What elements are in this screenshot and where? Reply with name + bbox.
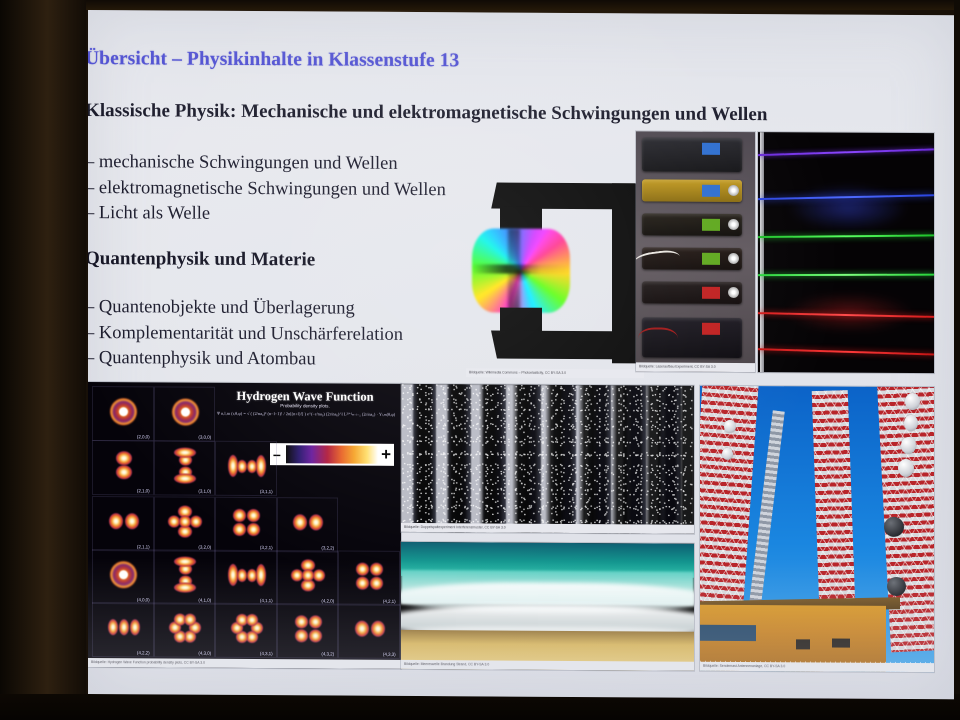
image-caption-interference: Bildquelle: Doppelspaltexperiment Interf…: [401, 523, 694, 534]
orbital-cell: (2,1,1): [92, 496, 154, 551]
orbital-label: (4,3,3): [383, 651, 396, 656]
image-photoelasticity: Bildquelle: Wikimedia Commons – Photoela…: [466, 172, 644, 378]
orbital-label: (3,2,1): [260, 545, 273, 550]
orbital-cell: (3,2,2): [277, 497, 339, 552]
orbital-cell: (4,0,0): [92, 549, 154, 604]
parabolic-dish: [898, 459, 914, 477]
orbital-label: (3,0,0): [198, 434, 211, 439]
orbital-cell: (4,2,0): [277, 550, 339, 605]
parabolic-dish: [901, 437, 916, 454]
orbital-cell: (4,1,1): [215, 550, 277, 605]
orbital-cell: (3,1,1): [215, 441, 277, 496]
orbital-cell: (4,3,1): [215, 603, 277, 658]
orbital-label: (4,0,0): [137, 597, 150, 602]
laser-beam-green: [758, 274, 934, 276]
slide-content: Übersicht – Physikinhalte in Klassenstuf…: [88, 10, 954, 699]
orbital-label: (3,2,0): [198, 544, 211, 549]
laser-chip: [702, 323, 720, 335]
laser-module: [642, 179, 742, 202]
image-double-slit-interference: Bildquelle: Doppelspaltexperiment Interf…: [401, 384, 694, 534]
orbital-label: (4,2,1): [383, 598, 396, 603]
laser-chip: [702, 219, 720, 231]
orbital-label: (3,1,0): [198, 488, 211, 493]
laser-beam-green: [758, 234, 934, 238]
orbital-cell: (3,2,0): [154, 496, 216, 551]
parabolic-dish: [724, 420, 736, 433]
orbital-label: (4,2,0): [321, 598, 334, 603]
image-antenna-masts: Bildquelle: Sendemast Antennenanlage, CC…: [700, 386, 934, 672]
orbital-grid: (2,0,0)(3,0,0)(2,1,0)(3,1,0)(3,1,1)(2,1,…: [90, 384, 399, 660]
laser-beam-violet: [758, 148, 934, 156]
microwave-drum-antenna: [887, 577, 906, 596]
building-window: [700, 625, 756, 641]
orbital-cell: (4,3,0): [154, 602, 216, 657]
orbital-cell: (2,1,0): [92, 440, 154, 495]
laser-chip: [702, 253, 720, 265]
slide-subtitle: Klassische Physik: Mechanische und elekt…: [88, 100, 915, 127]
parabolic-dish: [905, 393, 920, 410]
laser-aperture: [728, 253, 739, 264]
orbital-cell: (4,2,2): [92, 602, 154, 657]
photon-speckle: [401, 384, 694, 534]
orbital-cell: (4,3,2): [277, 603, 339, 658]
image-laser-beams: [758, 132, 934, 373]
microwave-drum-antenna: [884, 517, 904, 537]
image-caption-wave: Bildquelle: Meereswelle Brandung Strand,…: [401, 660, 694, 671]
laser-chip: [702, 185, 720, 197]
orbital-cell: (3,0,0): [154, 386, 216, 441]
laser-aperture: [728, 185, 739, 196]
laser-chip: [702, 143, 720, 155]
presentation-slide: Übersicht – Physikinhalte in Klassenstuf…: [88, 10, 954, 699]
image-hydrogen-wave-function: Hydrogen Wave Function Probability densi…: [88, 382, 401, 669]
orbital-label: (4,3,1): [260, 651, 273, 656]
orbital-label: (2,0,0): [137, 434, 150, 439]
frame-left-edge: [0, 0, 86, 720]
stress-fringe-vertical: [508, 229, 520, 313]
laser-beam-red: [758, 348, 934, 355]
image-caption-lasers: Bildquelle: Laseraufbau Experiment, CC B…: [636, 362, 755, 372]
beam-glow-blue: [788, 184, 908, 231]
orbital-label: (2,1,1): [137, 544, 150, 549]
orbital-label: (3,1,1): [260, 489, 273, 494]
red-cable: [638, 327, 678, 349]
image-ocean-wave: Bildquelle: Meereswelle Brandung Strand,…: [401, 542, 694, 671]
laser-chip: [702, 287, 720, 299]
slide-title: Übersicht – Physikinhalte in Klassenstuf…: [88, 48, 785, 74]
frame-right-edge: [954, 0, 960, 720]
projector-photo-frame: Übersicht – Physikinhalte in Klassenstuf…: [0, 0, 960, 720]
building-window: [796, 639, 810, 649]
orbital-cell: (4,3,3): [338, 604, 400, 659]
image-caption-antenna: Bildquelle: Sendemast Antennenanlage, CC…: [700, 662, 934, 672]
image-laser-array: Bildquelle: Laseraufbau Experiment, CC B…: [636, 131, 755, 372]
laser-module: [642, 281, 742, 304]
laser-aperture: [728, 219, 739, 230]
orbital-cell: (3,1,0): [154, 440, 216, 495]
orbital-cell: (4,2,1): [338, 551, 400, 606]
orbital-label: (2,1,0): [137, 488, 150, 493]
orbital-cell: (3,2,1): [215, 497, 277, 552]
laser-aperture: [728, 287, 739, 298]
orbital-cell: (2,0,0): [92, 386, 154, 441]
orbital-label: (4,3,0): [198, 650, 211, 655]
orbital-label: (4,1,0): [198, 597, 211, 602]
orbital-label: (4,1,1): [260, 598, 273, 603]
parabolic-dish: [904, 415, 918, 431]
parabolic-dish: [722, 448, 733, 460]
building-window: [832, 639, 850, 648]
laser-module: [642, 213, 742, 236]
frame-top-edge: [0, 0, 960, 10]
laser-module: [642, 137, 742, 172]
orbital-label: (4,3,2): [321, 651, 334, 656]
image-caption-hydrogen: Bildquelle: Hydrogen Wave Function proba…: [88, 658, 401, 669]
orbital-label: (4,2,2): [137, 650, 150, 655]
orbital-cell: (4,1,0): [154, 549, 216, 604]
image-caption-photoelasticity: Bildquelle: Wikimedia Commons – Photoela…: [466, 368, 644, 378]
orbital-label: (3,2,2): [321, 545, 334, 550]
stress-fringe-horizontal: [472, 264, 570, 274]
beam-screen-rail: [760, 132, 764, 372]
